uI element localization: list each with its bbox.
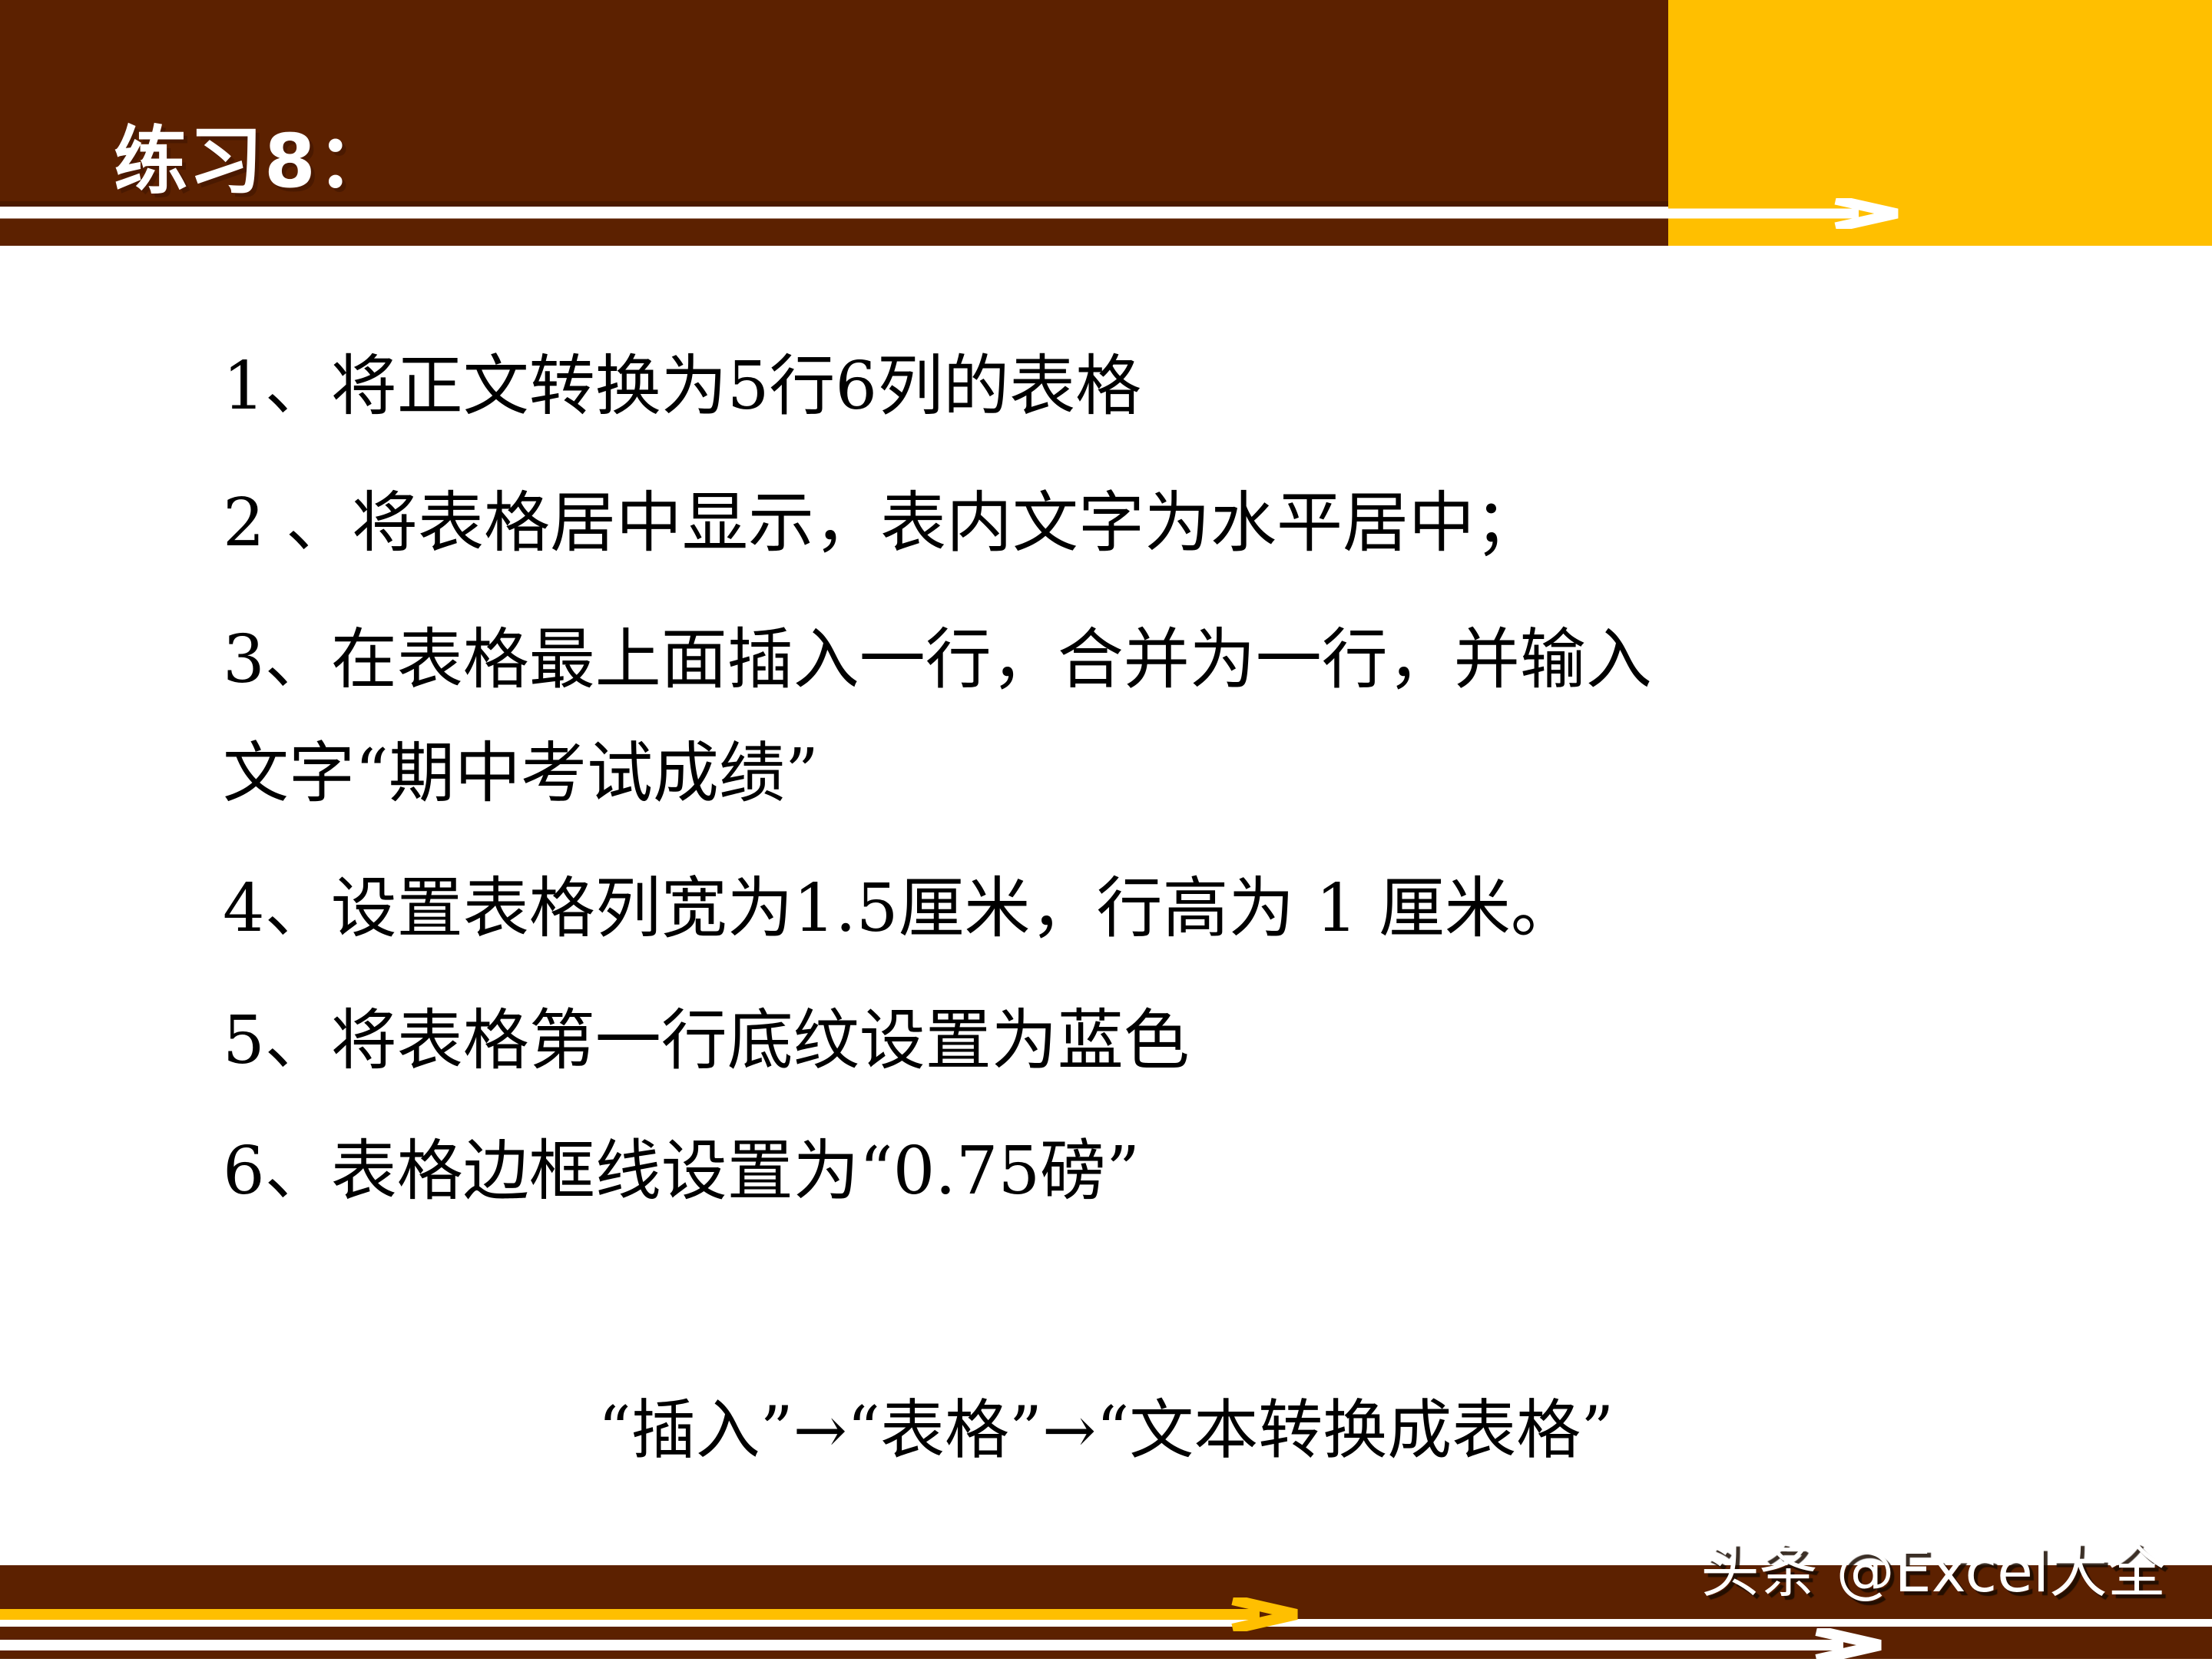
body-line-6: 6、表格边框线设置为“0.75磅” — [223, 1138, 1140, 1204]
page-title: 练习8： — [114, 124, 392, 198]
slide-footer: 头条 @Excel大全 — [0, 1536, 2212, 1659]
body-line-3: 3、在表格最上面插入一行，合并为一行，并输入 — [223, 627, 1652, 693]
slide-body: 1、将正文转换为5行6列的表格 2 、将表格居中显示，表内文字为水平居中； 3、… — [0, 292, 2212, 1521]
header-right-arrow-icon — [0, 198, 1912, 229]
body-line-4: 4、设置表格列宽为1.5厘米，行高为 1 厘米。 — [223, 876, 1577, 942]
footer-right-arrow-icon-white — [0, 1628, 1889, 1662]
closing-hint-line: “插入”→“表格”→“文本转换成表格” — [0, 1398, 2212, 1462]
footer-right-arrow-icon-yellow — [0, 1597, 1306, 1631]
watermark-label: 头条 @Excel大全 — [1701, 1542, 2166, 1601]
body-line-5: 5、将表格第一行底纹设置为蓝色 — [223, 1008, 1190, 1074]
body-line-3-continued: 文字“期中考试成绩” — [223, 740, 819, 806]
slide-header: 练习8： — [0, 0, 2212, 246]
body-line-2: 2 、将表格居中显示，表内文字为水平居中； — [223, 490, 1541, 556]
body-line-1: 1、将正文转换为5行6列的表格 — [223, 353, 1141, 419]
